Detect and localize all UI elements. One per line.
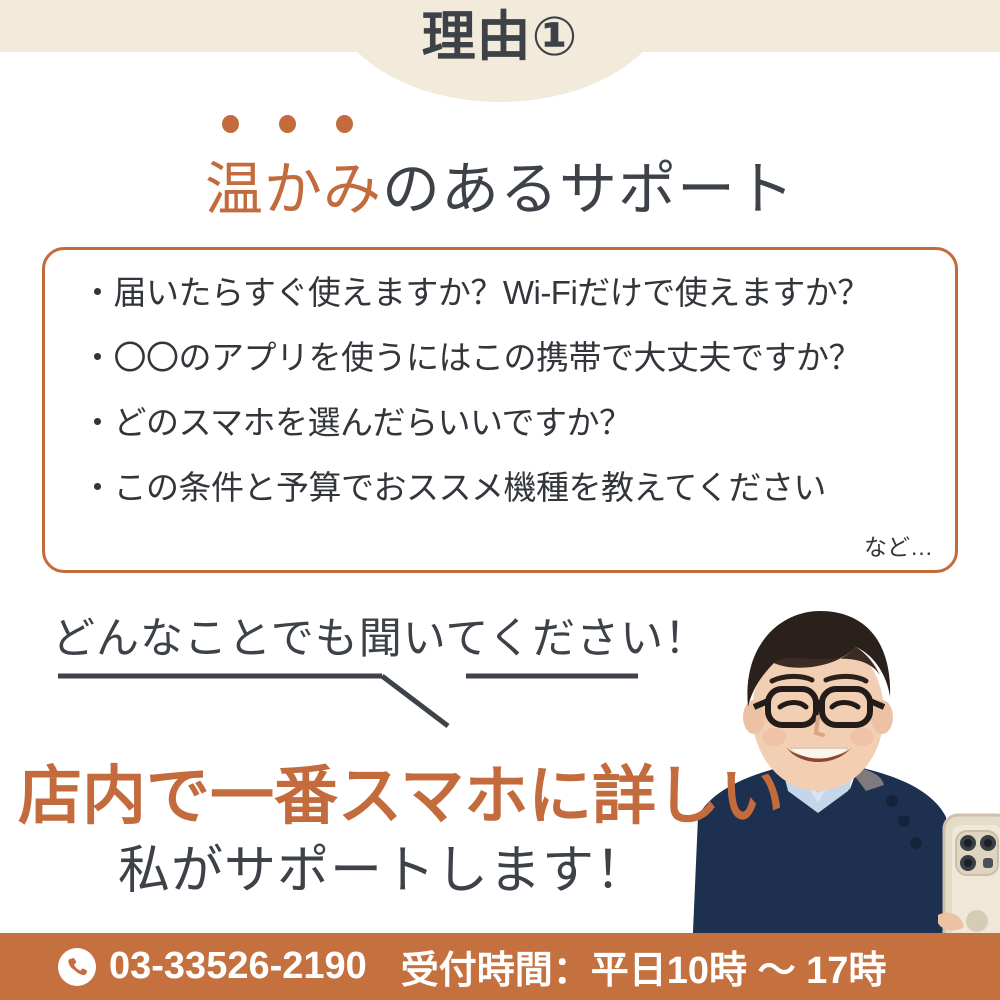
dot-icon [279,115,296,133]
dot-icon [222,115,239,133]
headline-highlight: 温かみ [205,157,382,222]
list-item: ・届いたらすぐ使えますか？Wi-Fiだけで使えますか？ [81,276,941,309]
decorative-dots [222,115,353,133]
phone-handset-icon [58,948,96,986]
business-hours: 受付時間：平日10時 〜 17時 [401,939,887,994]
list-item: ・〇〇のアプリを使うにはこの携帯で大丈夫ですか？ [81,341,941,374]
question-box: ・届いたらすぐ使えますか？Wi-Fiだけで使えますか？ ・〇〇のアプリを使うには… [42,247,958,573]
section-headline: 温かみのあるサポート [0,142,1000,226]
list-item: ・どのスマホを選んだらいいですか？ [81,406,941,439]
contact-bar: 03-33526-2190 受付時間：平日10時 〜 17時 [0,933,1000,1000]
question-list: ・届いたらすぐ使えますか？Wi-Fiだけで使えますか？ ・〇〇のアプリを使うには… [81,276,941,504]
ask-anything-text: どんなことでも聞いてください！ [52,604,708,666]
phone-number[interactable]: 03-33526-2190 [109,945,367,988]
page-title: 理由① [0,8,1000,67]
dot-icon [336,115,353,133]
emphasis-headline: 店内で一番スマホに詳しい [18,745,784,837]
headline-rest: のあるサポート [382,157,795,222]
speech-tail-underline [40,668,660,734]
etc-note: など… [864,528,933,562]
list-item: ・この条件と予算でおススメ機種を教えてください [81,471,941,504]
support-statement: 私がサポートします！ [118,828,648,903]
poster-root: 理由① 温かみのあるサポート ・届いたらすぐ使えますか？Wi-Fiだけで使えます… [0,0,1000,1000]
